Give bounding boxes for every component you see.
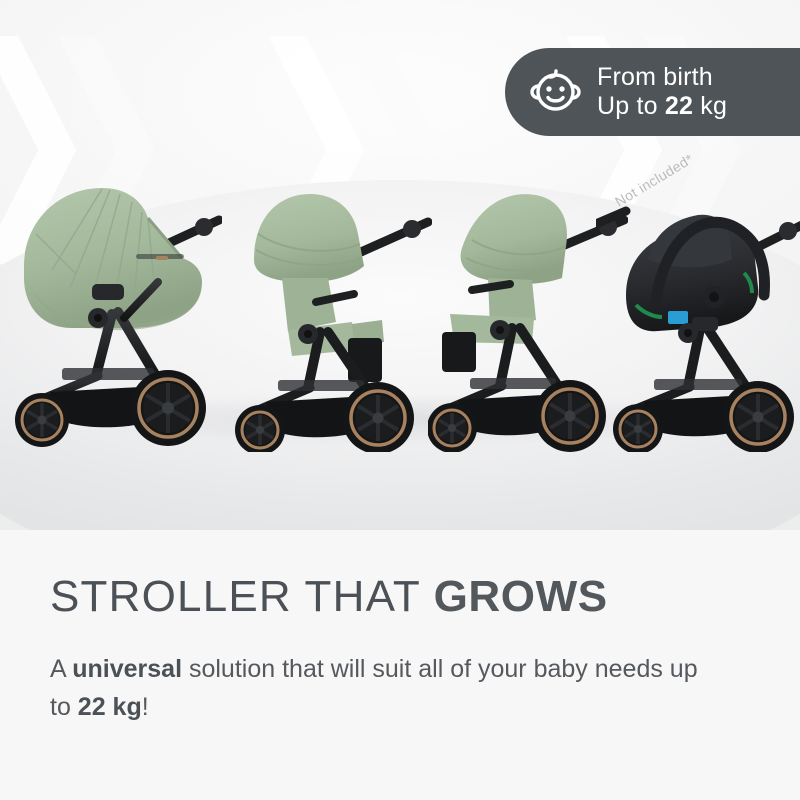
product-feature-poster: Not included* From birth Up to 22 kg bbox=[0, 0, 800, 800]
seat-backrest bbox=[282, 278, 336, 332]
front-wheel bbox=[428, 403, 477, 452]
badge-weight-unit: kg bbox=[693, 92, 727, 120]
page-subtitle: A universal solution that will suit all … bbox=[50, 650, 710, 726]
product-label bbox=[668, 311, 688, 324]
badge-text-block: From birth Up to 22 kg bbox=[597, 63, 727, 122]
badge-line-weight: Up to 22 kg bbox=[597, 92, 727, 122]
subcopy-part3: ! bbox=[142, 693, 149, 721]
subcopy-bold-weight: 22 kg bbox=[78, 693, 142, 721]
handlebar bbox=[352, 220, 428, 256]
leg-rest-panel bbox=[442, 332, 476, 372]
marketing-copy-section: STROLLER THAT GROWS A universal solution… bbox=[0, 530, 800, 800]
front-wheel bbox=[613, 404, 663, 452]
canopy-hood bbox=[254, 194, 364, 282]
baby-face-icon bbox=[527, 64, 583, 120]
headline-light: STROLLER THAT bbox=[50, 572, 434, 621]
front-wheel bbox=[15, 393, 69, 447]
badge-weight-value: 22 bbox=[665, 92, 693, 120]
rear-wheel bbox=[722, 381, 794, 452]
carry-handle bbox=[92, 284, 124, 300]
headline-bold: GROWS bbox=[434, 572, 608, 621]
car-seat-shell bbox=[626, 215, 764, 331]
carrycot-shell bbox=[24, 188, 202, 330]
rear-wheel bbox=[342, 382, 414, 452]
eye-left-icon bbox=[546, 86, 551, 91]
product-seat-unit-rear-facing bbox=[232, 182, 432, 452]
product-infant-car-seat bbox=[596, 177, 800, 452]
subcopy-part1: A bbox=[50, 655, 72, 683]
page-title: STROLLER THAT GROWS bbox=[50, 572, 750, 622]
from-birth-weight-badge: From birth Up to 22 kg bbox=[505, 48, 800, 136]
badge-upto-prefix: Up to bbox=[597, 92, 665, 120]
subcopy-bold-universal: universal bbox=[72, 655, 182, 683]
hero-photo-area: Not included* From birth Up to 22 kg bbox=[0, 0, 800, 530]
eye-right-icon bbox=[559, 86, 564, 91]
badge-line-from-birth: From birth bbox=[597, 63, 727, 93]
product-carrycot-bassinet bbox=[6, 162, 222, 452]
rear-wheel bbox=[130, 370, 206, 446]
adjacent-handlebar bbox=[598, 211, 626, 223]
